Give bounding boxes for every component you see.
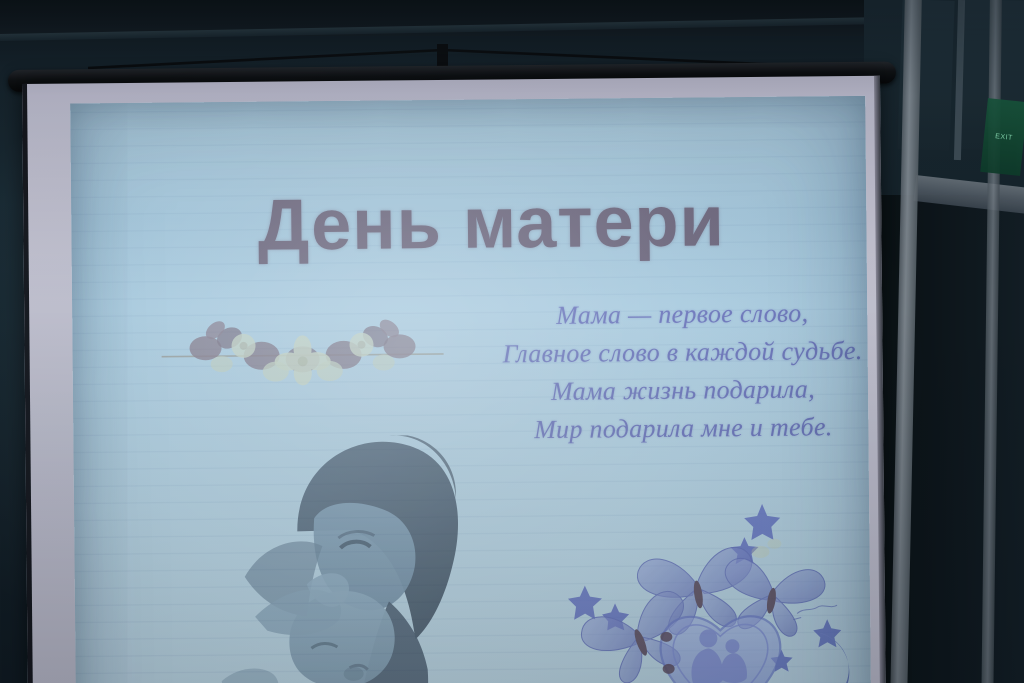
poem-line-4: Мир подарила мне и тебе.: [458, 408, 871, 450]
room-scene: EXIT День матери: [0, 0, 1024, 683]
exit-sign: EXIT: [980, 98, 1024, 176]
screen-surface: День матери: [22, 76, 886, 683]
slide-title: День матери: [181, 185, 802, 263]
poem-block: Мама — первое слово, Главное слово в каж…: [457, 294, 871, 450]
projected-slide: День матери: [70, 96, 871, 683]
mother-and-baby-photo: [201, 425, 489, 683]
poem-line-1: Мама — первое слово,: [457, 294, 871, 336]
floral-garland-icon: [157, 292, 448, 390]
projector-screen: День матери: [8, 62, 896, 683]
screen-left-edge: [22, 84, 33, 683]
poem-line-3: Мама жизнь подарила,: [458, 370, 872, 412]
butterfly-heart-clipart: [564, 491, 871, 683]
screen-right-edge: [874, 76, 886, 683]
poem-line-2: Главное слово в каждой судьбе.: [457, 332, 871, 374]
